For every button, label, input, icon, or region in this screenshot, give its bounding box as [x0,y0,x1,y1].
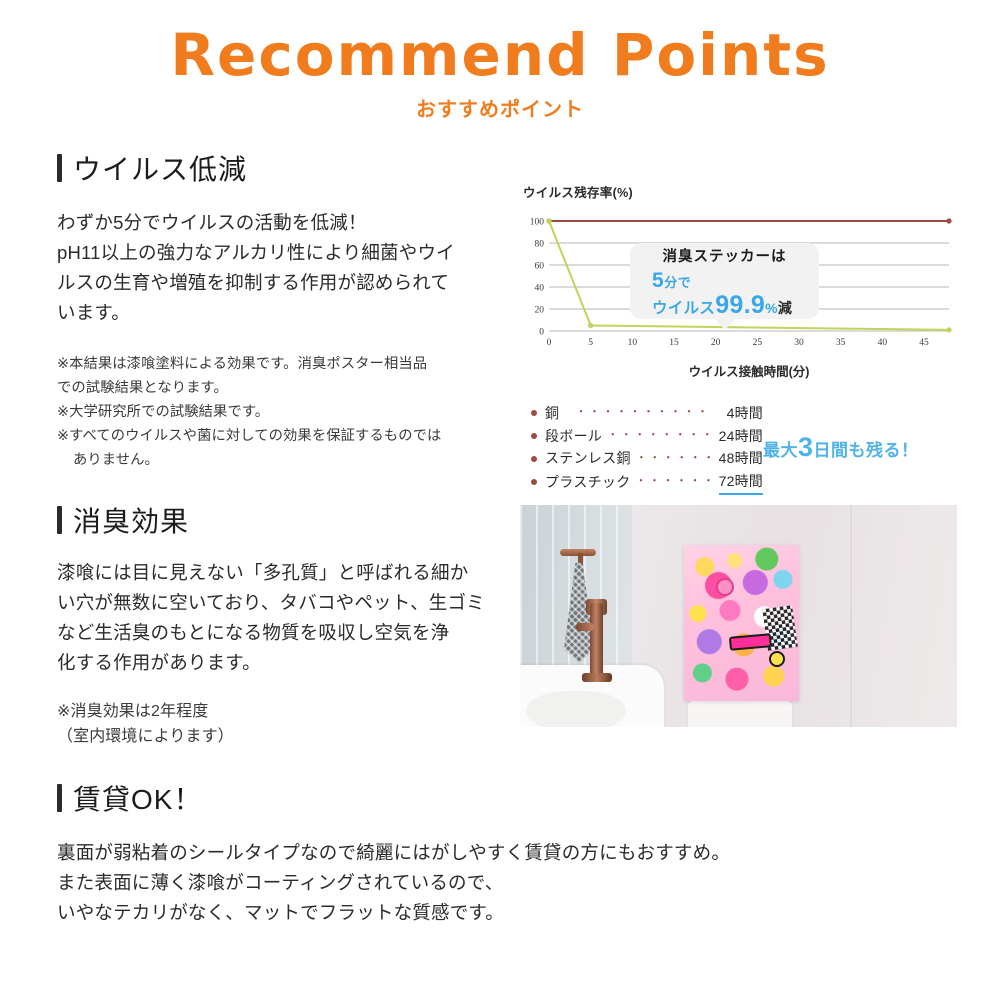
svg-text:40: 40 [535,284,545,294]
dot-leader: ・・・・・・・・・・ [602,427,718,445]
survival-material: 銅 [545,402,559,425]
note-line: ありません。 [57,448,517,472]
body-line: など生活臭のもとになる物質を吸収し空気を浄 [57,618,512,648]
survival-row: ステンレス銅・・・・・・・・・・48時間 [531,447,763,470]
svg-text:20: 20 [711,338,721,348]
section-body: 裏面が弱粘着のシールタイプなので綺麗にはがしやすく賃貸の方にもおすすめ。 また表… [57,838,857,928]
dot-leader: ・・・・・・・・・・ [631,450,719,468]
survival-row: プラスチック・・・・・・・・・・72時間 [531,470,763,495]
body-line: pH11以上の強力なアルカリ性により細菌やウイ [57,238,517,268]
section-virus-reduction: ウイルス低減 わずか5分でウイルスの活動を低減！ pH11以上の強力なアルカリ性… [57,148,517,472]
bullet-icon [531,456,537,462]
section-body: わずか5分でウイルスの活動を低減！ pH11以上の強力なアルカリ性により細菌やウ… [57,208,517,328]
chart-x-axis-label: ウイルス接触時間(分) [523,361,953,380]
svg-text:10: 10 [628,338,638,348]
svg-text:40: 40 [878,338,888,348]
svg-text:100: 100 [530,218,545,228]
chart-plot-area: 020406080100 051015202530354045 消臭ステッカーは… [523,215,953,355]
product-feature-page: Recommend Points おすすめポイント ウイルス低減 わずか5分でウ… [0,0,1000,1000]
note-line: ※大学研究所での試験結果です。 [57,400,517,424]
callout-line-1: 消臭ステッカーは [663,245,787,266]
body-line: わずか5分でウイルスの活動を低減！ [57,208,517,238]
bullet-icon [531,479,537,485]
page-header: Recommend Points おすすめポイント [0,24,1000,122]
callout-minutes-unit: 分 [664,275,678,290]
chart-y-tick-labels: 020406080100 [530,218,545,338]
poster-smiley-icon [716,578,734,596]
section-deodorizing-effect: 消臭効果 漆喰には目に見えない「多孔質」と呼ばれる細か い穴が無数に空いており、… [57,500,512,749]
photo-toilet [688,701,792,727]
photo-wall-edge [850,505,852,727]
callout-minutes-number: 5 [652,269,664,292]
note-line: での試験結果となります。 [57,376,517,400]
body-line: いやなテカリがなく、マットでフラットな質感です。 [57,898,857,928]
bathroom-poster-photo [520,505,957,727]
body-line: 化する作用があります。 [57,648,512,678]
photo-faucet [590,603,603,681]
note-line: ※本結果は漆喰塗料による効果です。消臭ポスター相当品 [57,352,517,376]
section-title: ウイルス低減 [73,148,247,188]
section-notes: ※本結果は漆喰塗料による効果です。消臭ポスター相当品 での試験結果となります。 … [57,352,517,472]
note-line: ※すべてのウイルスや菌に対しての効果を保証するものでは [57,424,517,448]
svg-text:25: 25 [753,338,763,348]
note-line: ※消臭効果は2年程度 [57,700,512,725]
photo-basin [526,691,626,727]
svg-text:80: 80 [535,240,545,250]
section-heading: ウイルス低減 [57,148,517,188]
section-title: 消臭効果 [73,500,189,540]
dot-leader: ・・・・・・・・・・ [631,473,719,491]
page-subtitle: おすすめポイント [0,93,1000,122]
body-line: 漆喰には目に見えない「多孔質」と呼ばれる細か [57,558,512,588]
highlight-prefix: 最大 [763,441,798,460]
svg-text:20: 20 [535,306,545,316]
callout-percent-sign: % [765,300,778,316]
section-heading: 賃貸OK！ [57,778,857,818]
chart-annotation-callout: 消臭ステッカーは 5分で ウイルス99.9%減 [630,243,819,319]
svg-text:0: 0 [547,338,552,348]
heading-bar-icon [57,506,62,534]
svg-text:5: 5 [588,338,593,348]
survival-duration-list: 銅・・・・・・・・・・4時間段ボール・・・・・・・・・・24時間ステンレス銅・・… [531,402,763,495]
photo-faucet-base [582,673,612,682]
heading-bar-icon [57,154,62,182]
section-heading: 消臭効果 [57,500,512,540]
bullet-icon [531,433,537,439]
note-line: （室内環境によります） [57,725,512,750]
svg-text:15: 15 [669,338,679,348]
bullet-icon [531,410,537,416]
highlight-suffix: 日間も残る！ [814,441,919,460]
survival-highlight-text: 最大3日間も残る！ [763,432,919,463]
section-notes: ※消臭効果は2年程度 （室内環境によります） [57,700,512,750]
section-rental-ok: 賃貸OK！ 裏面が弱粘着のシールタイプなので綺麗にはがしやすく賃貸の方にもおすす… [57,778,857,928]
section-body: 漆喰には目に見えない「多孔質」と呼ばれる細か い穴が無数に空いており、タバコやペ… [57,558,512,678]
callout-reduction-number: 99.9 [715,291,765,319]
virus-survival-chart: ウイルス残存率(%) 020406080100 0510152025303540… [523,182,953,380]
survival-duration: 24時間 [719,425,763,448]
page-title: Recommend Points [0,24,1000,87]
svg-text:45: 45 [919,338,929,348]
body-line: また表面に薄く漆喰がコーティングされているので、 [57,868,857,898]
svg-text:35: 35 [836,338,846,348]
heading-bar-icon [57,784,62,812]
body-line: 裏面が弱粘着のシールタイプなので綺麗にはがしやすく賃貸の方にもおすすめ。 [57,838,857,868]
callout-line-3: ウイルス99.9%減 [630,293,792,318]
svg-text:60: 60 [535,262,545,272]
svg-text:0: 0 [539,328,544,338]
survival-row: 銅・・・・・・・・・・4時間 [531,402,763,425]
poster-label-tag [728,634,771,652]
survival-duration: 48時間 [719,447,763,470]
highlight-number: 3 [798,432,814,462]
survival-material: 段ボール [545,425,602,448]
body-line: い穴が無数に空いており、タバコやペット、生ゴミ [57,588,512,618]
dot-leader: ・・・・・・・・・・ [559,404,726,422]
survival-row: 段ボール・・・・・・・・・・24時間 [531,425,763,448]
survival-material: プラスチック [545,471,631,494]
chart-x-tick-labels: 051015202530354045 [547,338,929,348]
callout-reduction-suffix: 減 [778,300,792,316]
callout-minutes-suffix: で [678,275,692,290]
survival-duration: 72時間 [719,470,763,495]
chart-title: ウイルス残存率(%) [523,182,953,201]
photo-sticker-poster [684,545,799,701]
svg-text:30: 30 [794,338,804,348]
survival-duration: 4時間 [727,402,763,425]
photo-content [520,505,957,727]
poster-smiley-icon [769,651,785,667]
photo-faucet-lever [576,623,594,631]
section-title: 賃貸OK！ [73,778,202,818]
callout-virus-word: ウイルス [652,300,715,317]
callout-line-2: 5分で [630,269,691,293]
body-line: います。 [57,298,517,328]
body-line: ルスの生育や増殖を抑制する作用が認められて [57,268,517,298]
survival-material: ステンレス銅 [545,447,631,470]
